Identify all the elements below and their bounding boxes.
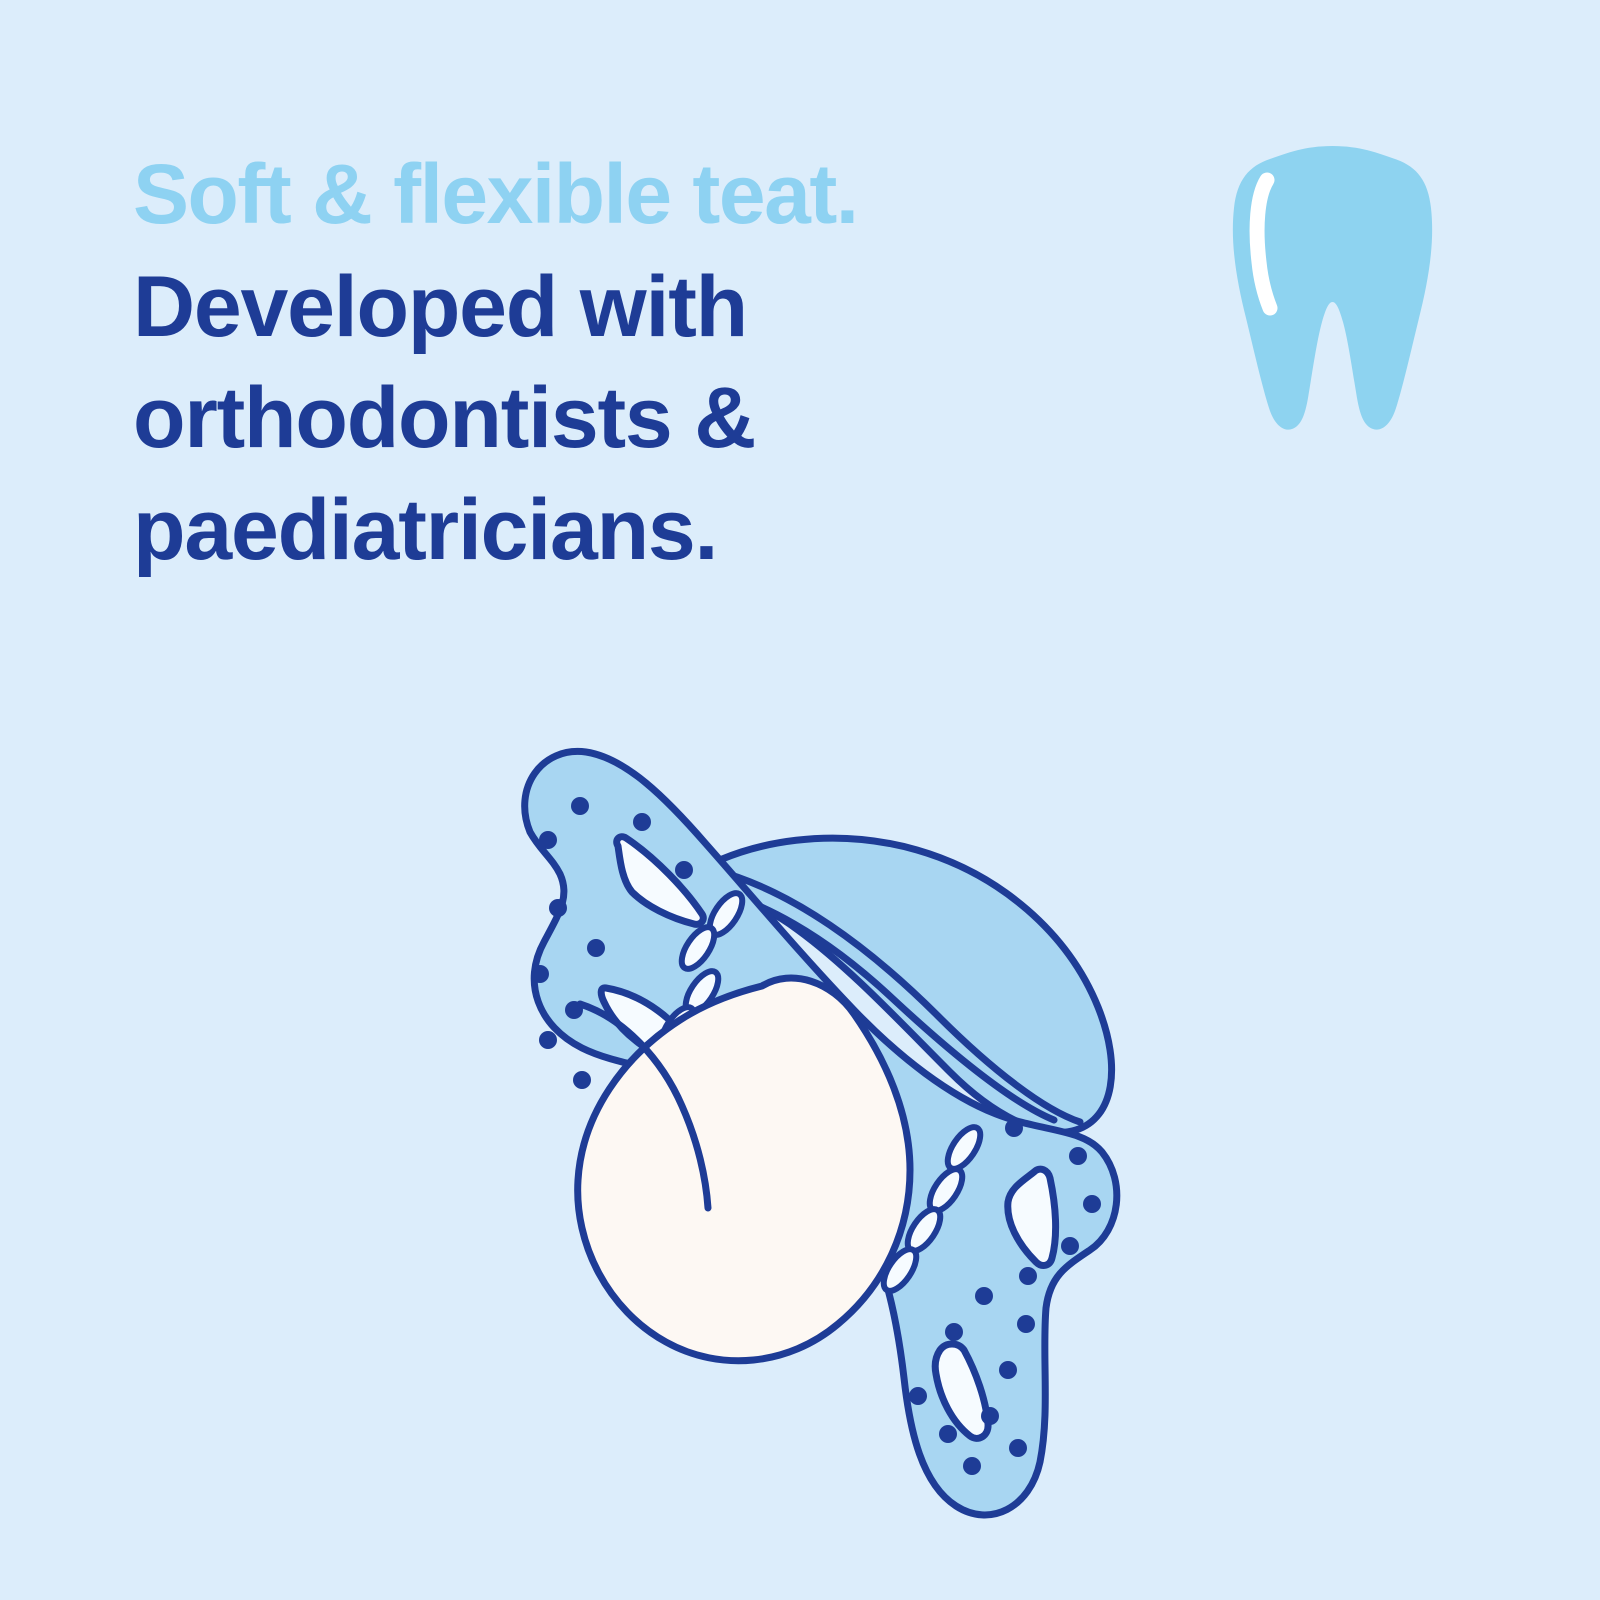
headline-line-1: Developed with bbox=[133, 252, 1143, 364]
headline-line-2: orthodontists & bbox=[133, 363, 1143, 475]
eyebrow-text: Soft & flexible teat. bbox=[133, 152, 1143, 238]
pacifier-teat bbox=[578, 978, 910, 1361]
pacifier-illustration bbox=[430, 710, 1160, 1540]
tooth-badge bbox=[1225, 132, 1440, 437]
poster-canvas: Soft & flexible teat. Developed with ort… bbox=[0, 0, 1600, 1600]
headline-copy-block: Soft & flexible teat. Developed with ort… bbox=[133, 152, 1143, 587]
tooth-icon bbox=[1225, 132, 1440, 437]
pacifier-svg bbox=[430, 710, 1160, 1540]
page-title: Developed with orthodontists & paediatri… bbox=[133, 252, 1143, 587]
headline-line-3: paediatricians. bbox=[133, 475, 1143, 587]
